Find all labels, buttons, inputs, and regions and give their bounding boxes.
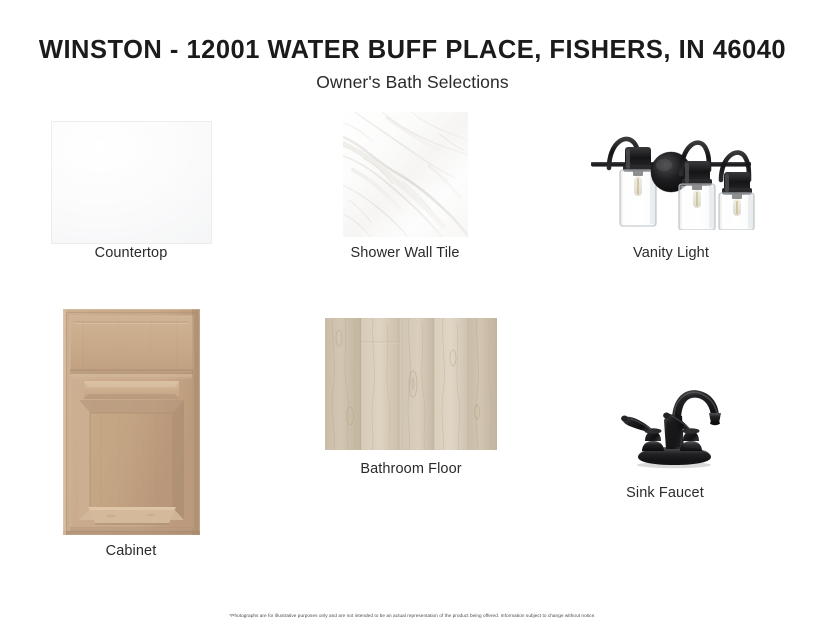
vanity-light-graphic — [581, 124, 762, 230]
countertop-swatch-image — [51, 121, 212, 244]
cabinet-graphic — [63, 309, 200, 535]
countertop-label: Countertop — [1, 245, 261, 261]
floor-plank-graphic — [325, 318, 497, 450]
bathroom-floor-label: Bathroom Floor — [281, 461, 541, 477]
footer-disclaimer: *Photographs are for illustrative purpos… — [0, 613, 825, 619]
cabinet-label: Cabinet — [1, 543, 261, 559]
marble-veining — [343, 112, 468, 237]
sink-faucet-label: Sink Faucet — [535, 485, 795, 501]
selections-grid: Countertop — [0, 0, 825, 637]
sink-faucet-product-image — [612, 371, 737, 469]
bathroom-floor-sample-image — [325, 318, 497, 450]
faucet-graphic — [612, 371, 737, 469]
vanity-light-label: Vanity Light — [541, 245, 801, 261]
vanity-light-product-image — [581, 124, 762, 230]
shower-wall-tile-swatch-image — [343, 112, 468, 237]
cabinet-door-sample-image — [63, 309, 200, 535]
shower-wall-tile-label: Shower Wall Tile — [275, 245, 535, 261]
selections-sheet: WINSTON - 12001 WATER BUFF PLACE, FISHER… — [0, 0, 825, 637]
